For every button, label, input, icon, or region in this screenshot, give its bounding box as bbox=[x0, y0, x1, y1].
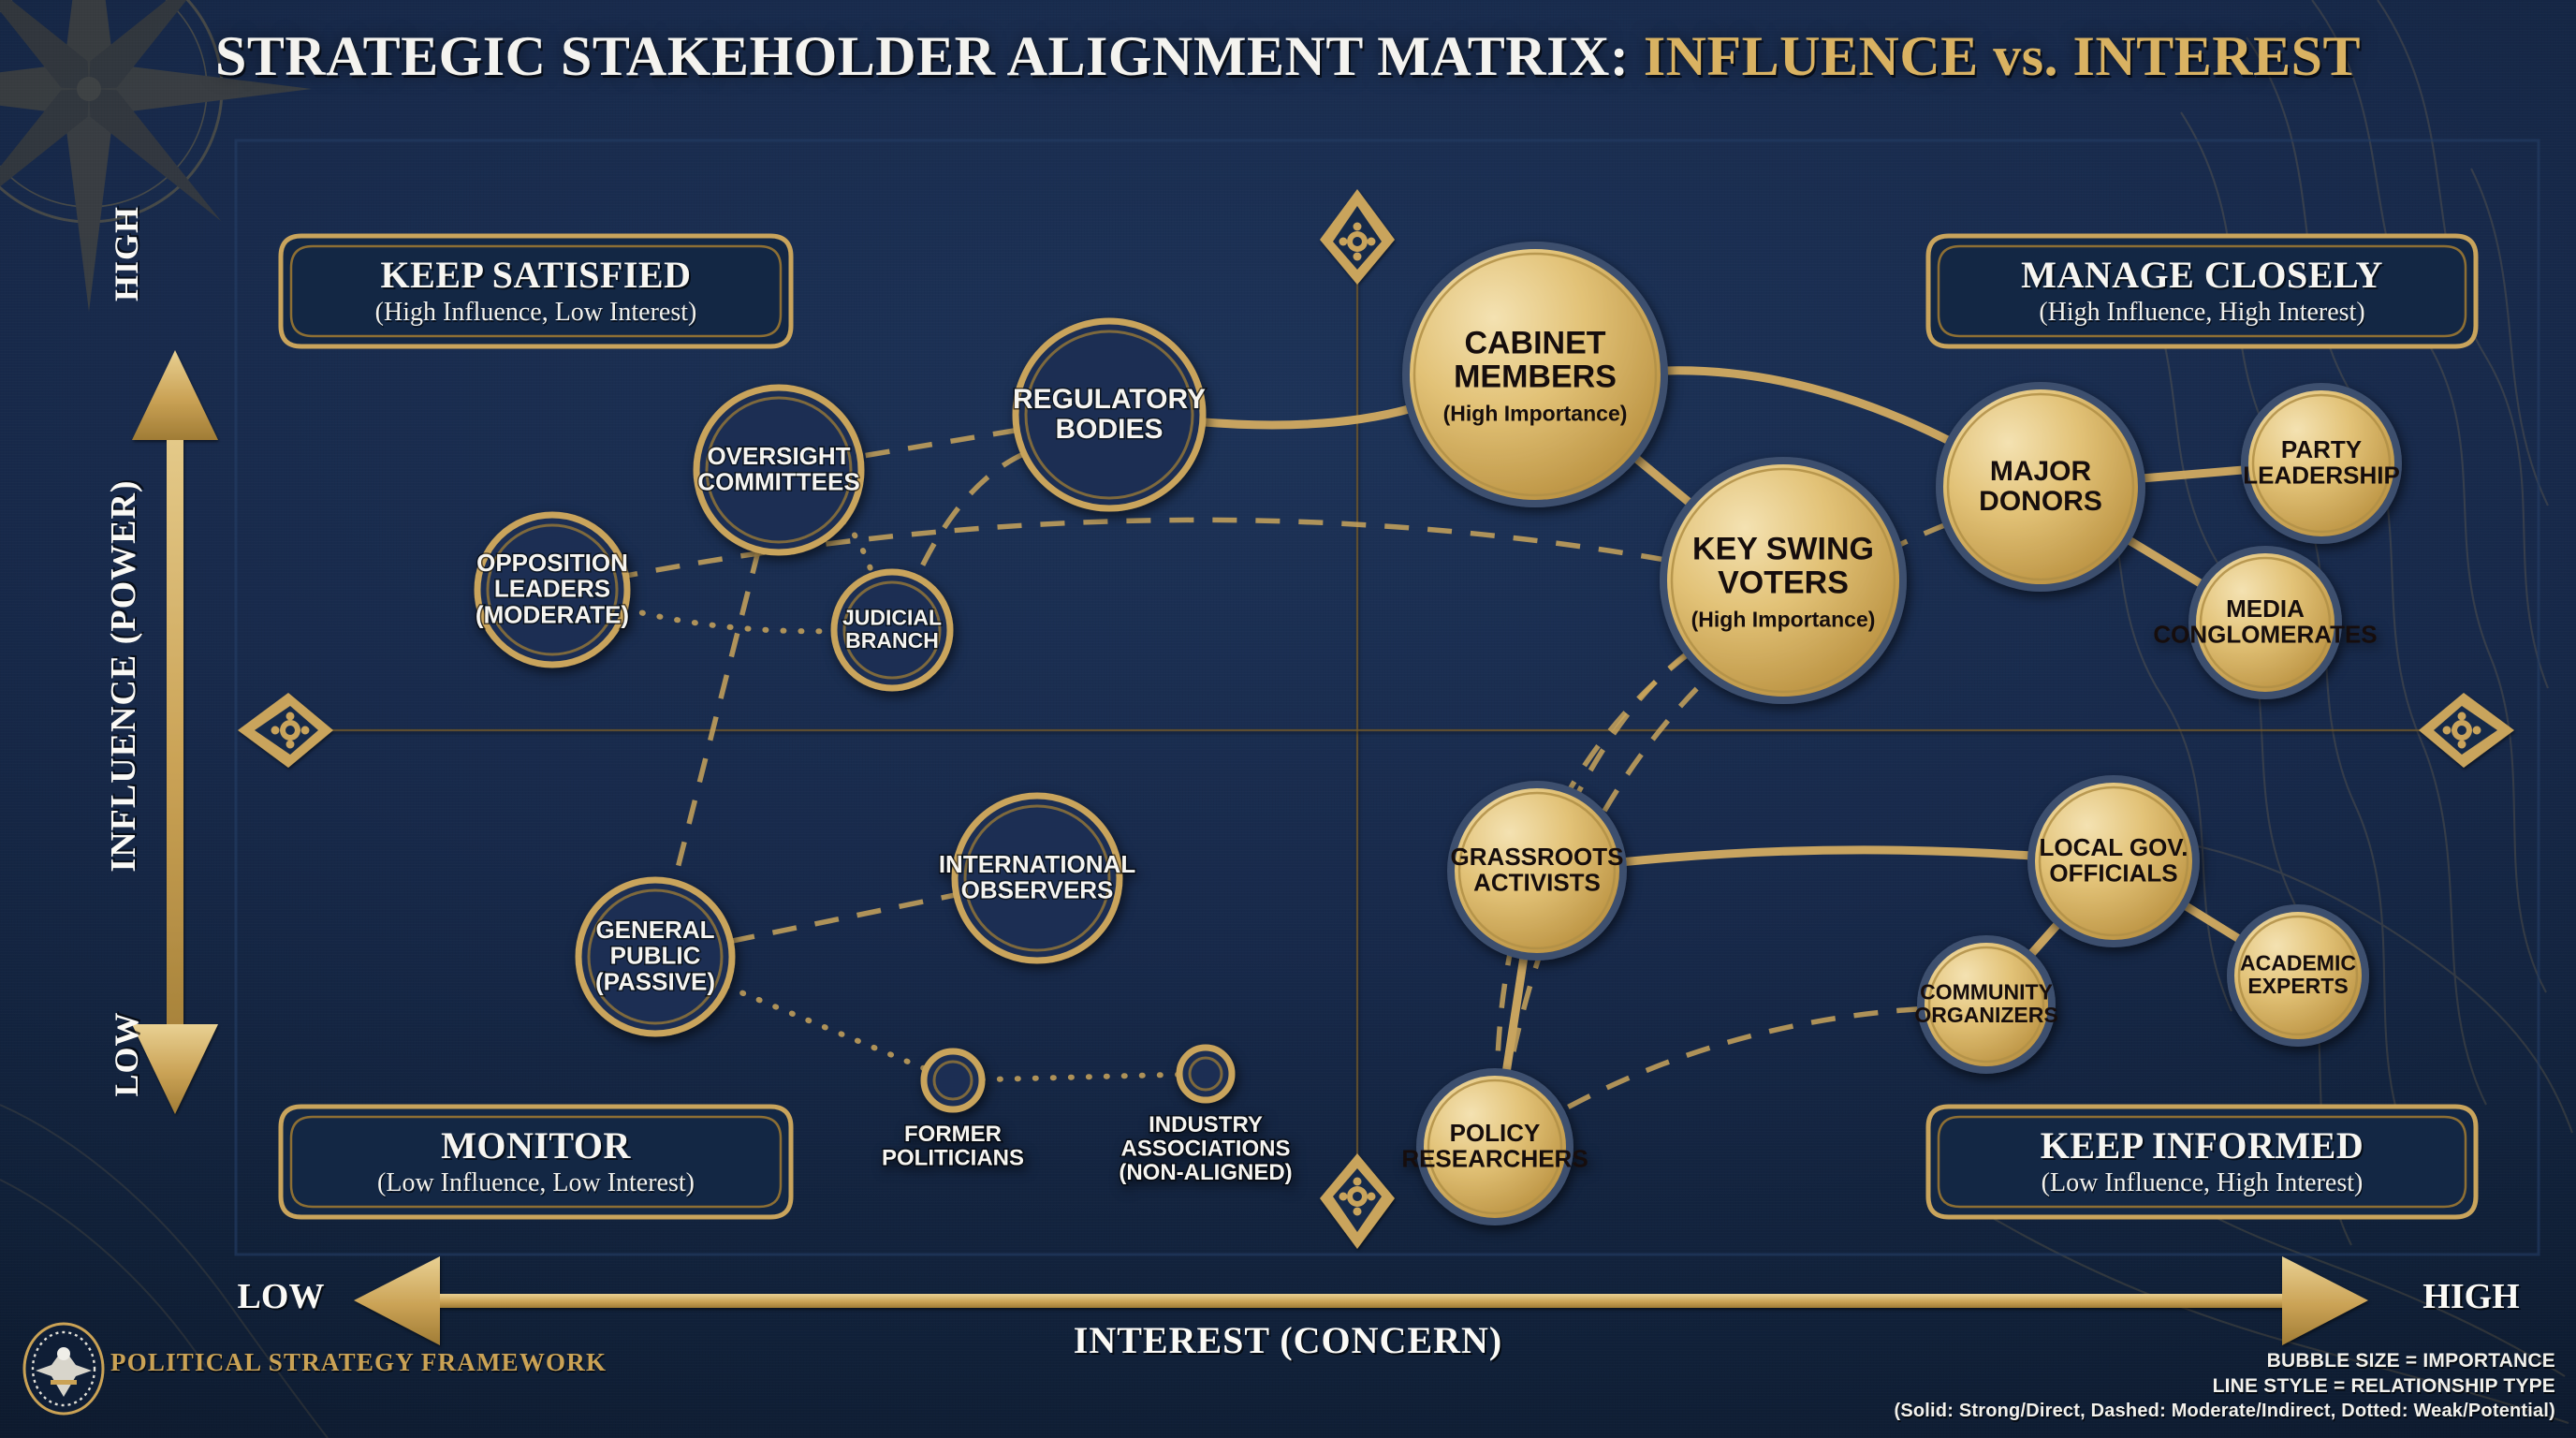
infographic-canvas: STRATEGIC STAKEHOLDER ALIGNMENT MATRIX: … bbox=[0, 0, 2576, 1438]
legend-block: BUBBLE SIZE = IMPORTANCE LINE STYLE = RE… bbox=[1894, 1348, 2555, 1424]
brand-label: POLITICAL STRATEGY FRAMEWORK bbox=[110, 1348, 607, 1377]
legend-line-3: (Solid: Strong/Direct, Dashed: Moderate/… bbox=[1894, 1399, 2555, 1424]
legend-line-2: LINE STYLE = RELATIONSHIP TYPE bbox=[1894, 1373, 2555, 1399]
legend-line-1: BUBBLE SIZE = IMPORTANCE bbox=[1894, 1348, 2555, 1373]
footer-emblem-layer bbox=[0, 0, 2576, 1438]
presidential-seal-icon bbox=[24, 1324, 103, 1414]
